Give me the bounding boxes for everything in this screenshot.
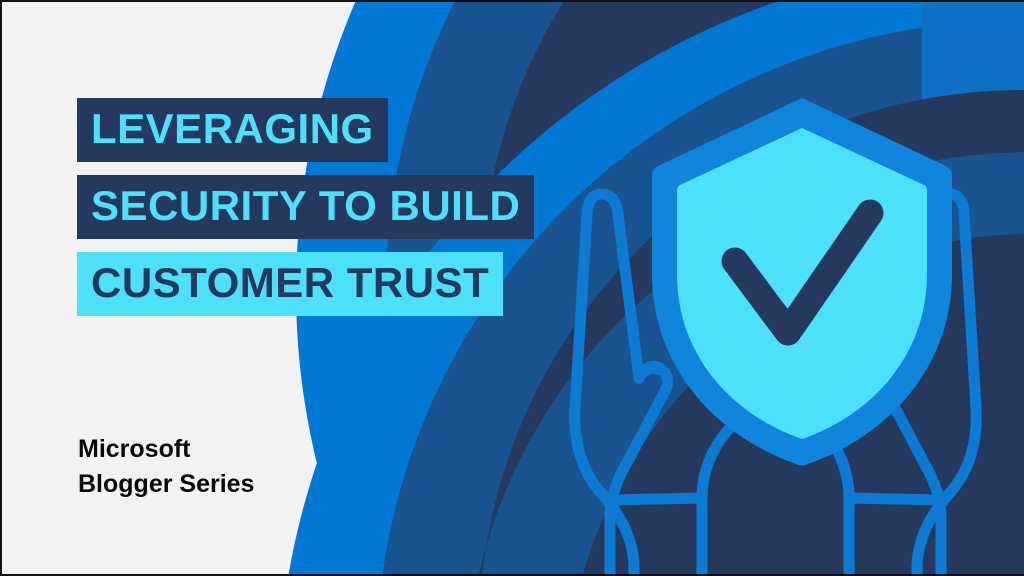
series-label: Microsoft Blogger Series [78,432,254,501]
footer-line-1: Microsoft [78,432,254,467]
title-line-1: LEVERAGING [77,98,388,162]
title-line-3: CUSTOMER TRUST [77,252,503,316]
slide-canvas: LEVERAGING SECURITY TO BUILD CUSTOMER TR… [0,0,1024,576]
footer-line-2: Blogger Series [78,467,254,502]
page-title: LEVERAGING SECURITY TO BUILD CUSTOMER TR… [77,98,534,316]
title-line-2: SECURITY TO BUILD [77,175,534,239]
